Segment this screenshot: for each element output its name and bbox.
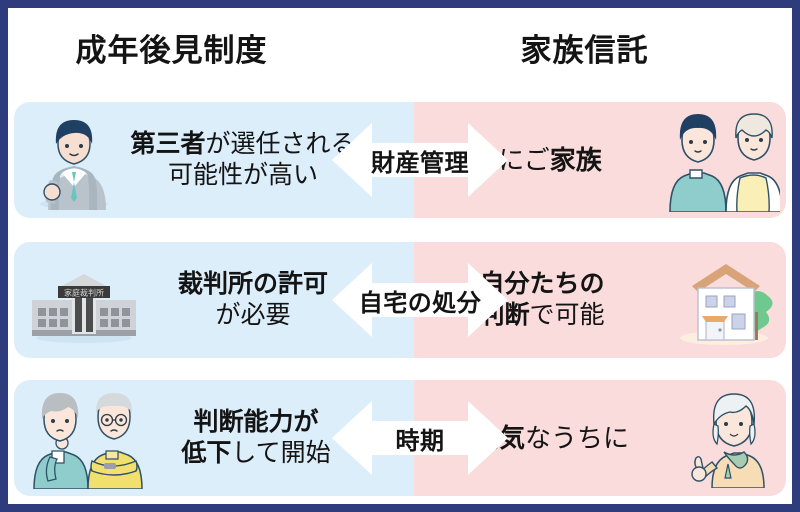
row-3-left-line2: 低下して開始: [150, 438, 362, 470]
elderly-lady-icon: [688, 388, 780, 488]
row-3-topic-label: 時期: [396, 421, 445, 456]
row-1-topic-label: 財産管理: [371, 143, 469, 178]
row-2-left-line2-rest: が必要: [215, 301, 290, 329]
row-3-right-line1-rest: なうちに: [525, 423, 629, 453]
header-row: 成年後見制度 家族信託: [8, 8, 792, 90]
courthouse-sign-text: 家庭裁判所: [64, 288, 104, 298]
header-left: 成年後見制度: [8, 8, 421, 90]
row-1-left-line1-bold: 第三者: [130, 130, 205, 158]
row-1-topic-arrow: 財産管理: [332, 117, 508, 203]
row-1-right-line1-bold: 家族: [550, 145, 602, 175]
house-icon: [670, 252, 780, 348]
row-3-topic-arrow: 時期: [332, 395, 508, 481]
header-right: 家族信託: [421, 8, 792, 90]
comparison-row-1: 第三者が選任される 可能性が高い 主にご家族: [14, 102, 786, 218]
elderly-couple-icon: [28, 387, 146, 489]
row-3-left-line2-bold: 低下: [181, 439, 231, 467]
row-1-left-line2: 可能性が高い: [124, 160, 362, 192]
couple-icon: [660, 108, 780, 212]
row-3-left-line1: 判断能力が: [150, 407, 362, 439]
row-2-topic-arrow: 自宅の処分: [332, 257, 508, 343]
row-2-left-line1-bold: 裁判所の許可: [178, 270, 328, 298]
comparison-infographic: 成年後見制度 家族信託: [0, 0, 800, 512]
comparison-row-3: 判断能力が 低下して開始 元気なうちに: [14, 380, 786, 496]
businessman-icon: [28, 110, 120, 210]
comparison-row-2: 家庭裁判所 裁判所の許可 が必要 自分たちの 判断で可能: [14, 242, 786, 358]
courthouse-icon: 家庭裁判所: [28, 254, 140, 346]
row-3-left-line1-bold: 判断能力が: [193, 408, 318, 436]
row-3-left-line2-rest: して開始: [231, 439, 330, 467]
row-2-topic-label: 自宅の処分: [359, 283, 482, 318]
row-1-left-line2-rest: 可能性が高い: [168, 161, 318, 189]
row-2-left-line2: が必要: [144, 300, 362, 332]
row-1-left-line1: 第三者が選任される: [124, 129, 362, 161]
row-2-right-line2-rest: で可能: [530, 301, 605, 329]
row-2-left-line1: 裁判所の許可: [144, 269, 362, 301]
